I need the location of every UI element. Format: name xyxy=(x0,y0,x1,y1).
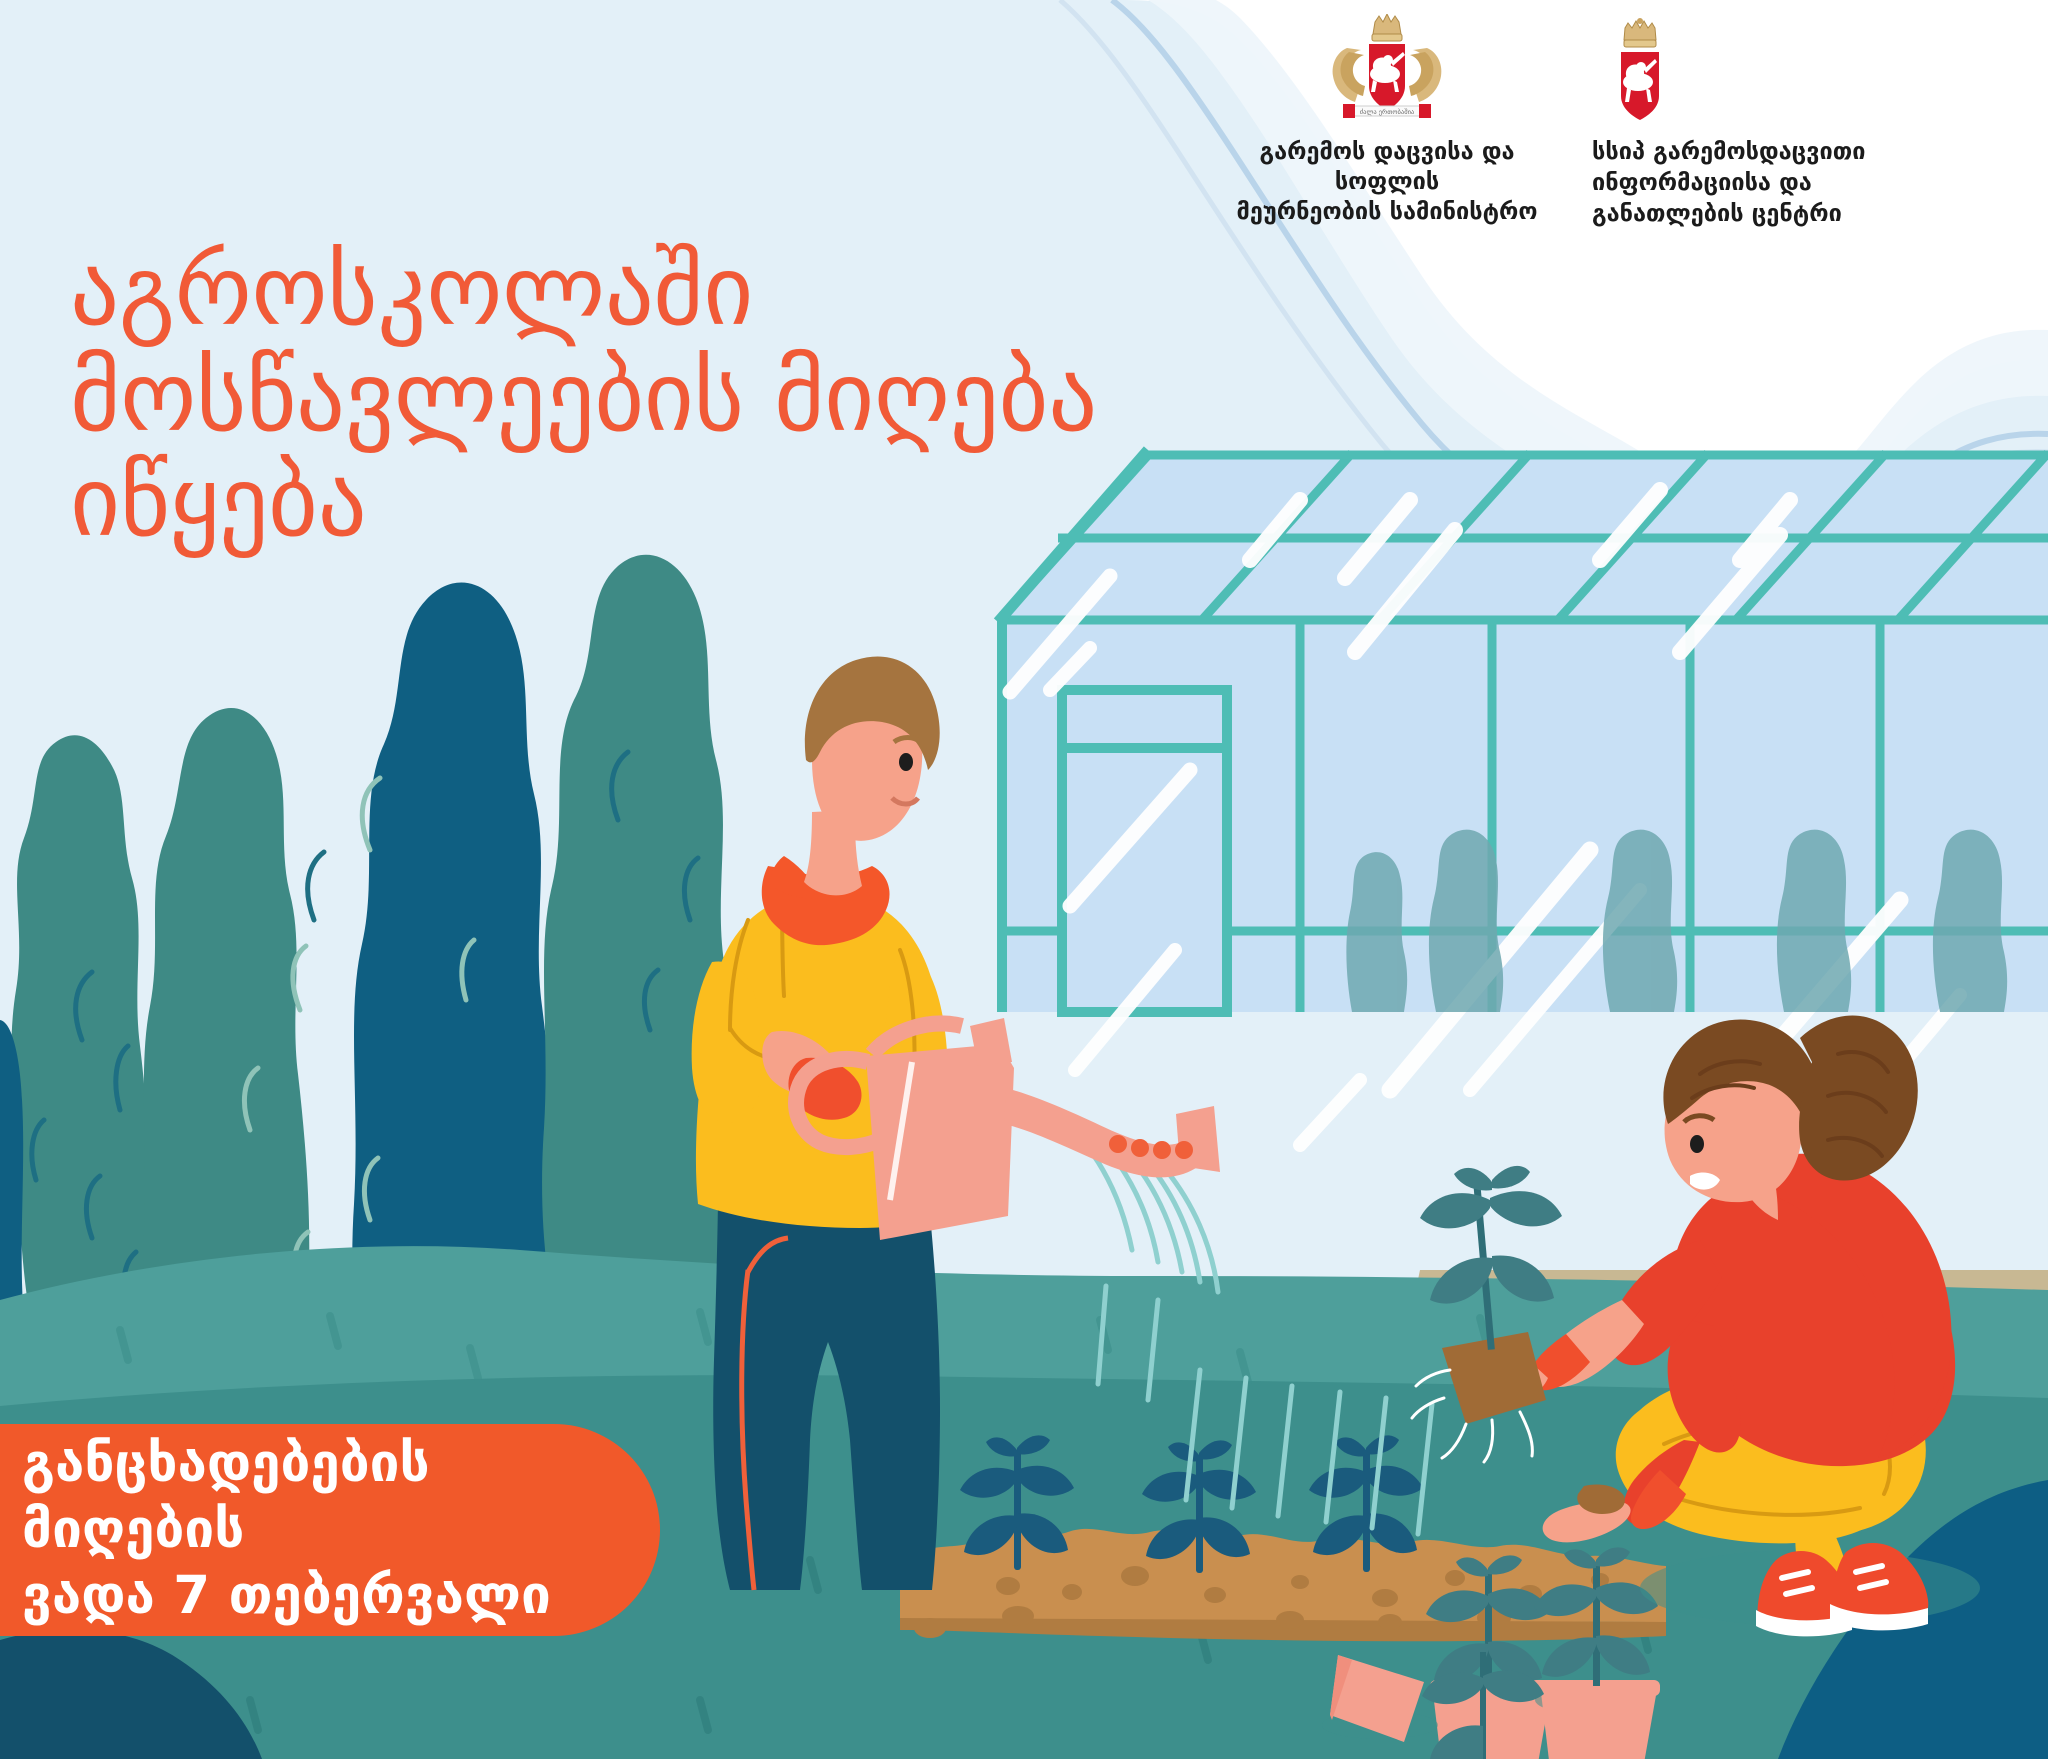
deadline-banner-text: განცხადებების მიღების ვადა 7 თებერვალი xyxy=(0,1431,660,1630)
page-title: აგროსკოლაში მოსწავლეების მიღება იწყება xyxy=(70,238,1250,555)
ministry-logo: ძალა ერთობაშია გარემოს დაცვისა და სოფლის… xyxy=(1222,14,1552,226)
small-shield-svg xyxy=(1610,16,1670,124)
logo-block: ძალა ერთობაშია გარემოს დაცვისა და სოფლის… xyxy=(1222,14,2022,204)
deadline-banner: განცხადებების მიღების ვადა 7 თებერვალი xyxy=(0,1424,660,1636)
center-name: სსიპ გარემოსდაცვითი ინფორმაციისა და განა… xyxy=(1592,136,1942,229)
svg-text:ძალა ერთობაშია: ძალა ერთობაშია xyxy=(1360,107,1414,116)
center-logo: სსიპ გარემოსდაცვითი ინფორმაციისა და განა… xyxy=(1592,14,1942,229)
front-seedling-a xyxy=(1422,1652,1544,1759)
georgia-coat-of-arms-icon: ძალა ერთობაშია xyxy=(1222,14,1552,126)
ministry-name: გარემოს დაცვისა და სოფლის მეურნეობის სამ… xyxy=(1222,136,1552,226)
poster-canvas: ძალა ერთობაშია გარემოს დაცვისა და სოფლის… xyxy=(0,0,2048,1759)
coat-of-arms-svg: ძალა ერთობაშია xyxy=(1325,14,1449,126)
georgia-small-shield-icon xyxy=(1592,16,1942,124)
